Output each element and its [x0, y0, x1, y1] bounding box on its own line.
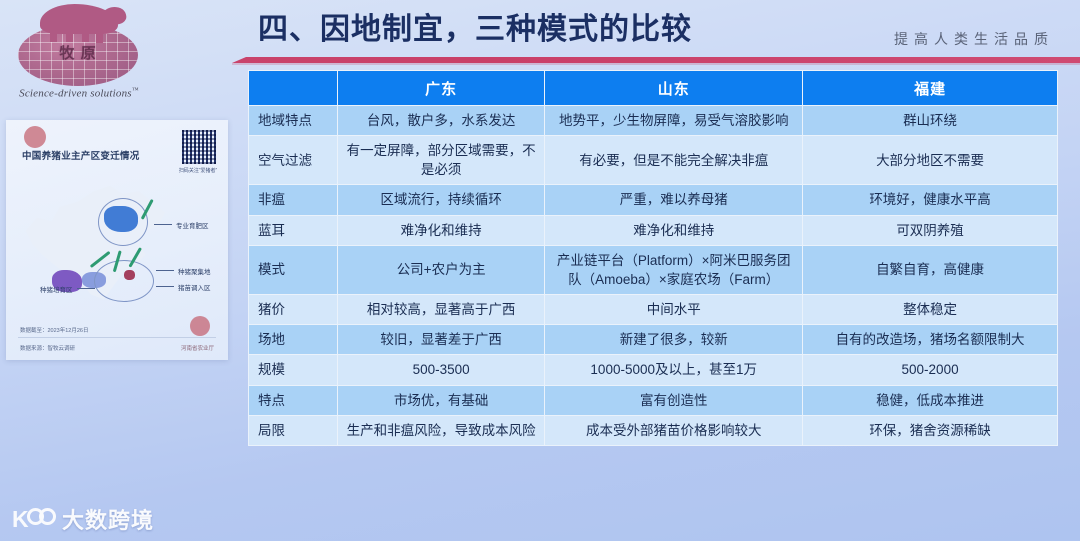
row-label: 地域特点 [249, 106, 338, 136]
highlight-circle-north [98, 198, 148, 246]
table-header-blank [249, 71, 338, 106]
table-header: 广东 山东 福建 [249, 71, 1058, 106]
map-title: 中国养猪业主产区变迁情况 [22, 148, 140, 162]
slide-slogan: 提高人类生活品质 [894, 29, 1054, 49]
o-glyph-2 [39, 508, 56, 525]
cell-shandong: 中间水平 [545, 295, 803, 325]
watermark: K 大数跨境 [12, 503, 154, 535]
map-footer-date: 数据截至：2023年12月26日 [20, 326, 88, 334]
row-label: 场地 [249, 325, 338, 355]
row-label: 局限 [249, 415, 338, 445]
cell-fujian: 环境好，健康水平高 [803, 185, 1058, 215]
cell-fujian: 可双阴养殖 [803, 215, 1058, 245]
cell-shandong: 成本受外部猪苗价格影响较大 [545, 415, 803, 445]
logo-brand-text: 牧 原 [18, 42, 138, 63]
table-row: 局限 生产和非瘟风险，导致成本风险 成本受外部猪苗价格影响较大 环保，猪舍资源稀… [249, 415, 1058, 445]
table-row: 非瘟 区域流行，持续循环 严重，难以养母猪 环境好，健康水平高 [249, 185, 1058, 215]
table-row: 特点 市场优，有基础 富有创造性 稳健，低成本推进 [249, 385, 1058, 415]
map-divider [18, 337, 216, 338]
row-label: 非瘟 [249, 185, 338, 215]
cell-shandong: 富有创造性 [545, 385, 803, 415]
table-header-shandong: 山东 [545, 71, 803, 106]
row-label: 特点 [249, 385, 338, 415]
slide-canvas: 牧 原 Science-driven solutions™ 中国养猪业主产区变迁… [0, 0, 1080, 541]
row-label: 空气过滤 [249, 136, 338, 185]
cell-guangdong: 生产和非瘟风险，导致成本风险 [337, 415, 544, 445]
table-row: 场地 较旧，显著差于广西 新建了很多，较新 自有的改造场，猪场名额限制大 [249, 325, 1058, 355]
watermark-text: 大数跨境 [62, 503, 154, 535]
qr-caption: 扫码关注“爱猪者” [172, 167, 224, 174]
cell-guangdong: 难净化和维持 [337, 215, 544, 245]
logo-tagline: Science-driven solutions™ [4, 86, 154, 100]
cell-guangdong: 区域流行，持续循环 [337, 185, 544, 215]
cell-shandong: 产业链平台（Platform）×阿米巴服务团队（Amoeba）×家庭农场（Far… [545, 245, 803, 294]
map-label-piglet-import: 猪苗调入区 [178, 282, 211, 292]
k100-logo-icon: K [12, 506, 54, 532]
comparison-table: 广东 山东 福建 地域特点 台风，散户多，水系发达 地势平，少生物屏障，易受气溶… [248, 70, 1058, 446]
table-body: 地域特点 台风，散户多，水系发达 地势平，少生物屏障，易受气溶胶影响 群山环绕 … [249, 106, 1058, 446]
cell-guangdong: 500-3500 [337, 355, 544, 385]
map-badge-bottom [190, 316, 210, 336]
china-map-panel: 中国养猪业主产区变迁情况 扫码关注“爱猪者” 专业育肥区 种猪聚集地 猪苗调入区… [6, 120, 228, 360]
pig-icon [40, 4, 118, 34]
cell-shandong: 1000-5000及以上，甚至1万 [545, 355, 803, 385]
cell-fujian: 整体稳定 [803, 295, 1058, 325]
k-glyph: K [12, 507, 29, 531]
table-header-fujian: 福建 [803, 71, 1058, 106]
cell-guangdong: 公司+农户为主 [337, 245, 544, 294]
row-label: 蓝耳 [249, 215, 338, 245]
row-label: 规模 [249, 355, 338, 385]
table-row: 空气过滤 有一定屏障，部分区域需要，不是必须 有必要，但是不能完全解决非瘟 大部… [249, 136, 1058, 185]
cell-fujian: 环保，猪舍资源稀缺 [803, 415, 1058, 445]
map-footer-source: 数据来源：智牧云调研 [20, 344, 75, 352]
cell-shandong: 严重，难以养母猪 [545, 185, 803, 215]
cell-shandong: 新建了很多，较新 [545, 325, 803, 355]
trademark-symbol: ™ [132, 86, 139, 94]
cell-fujian: 500-2000 [803, 355, 1058, 385]
cell-fujian: 稳健，低成本推进 [803, 385, 1058, 415]
cell-shandong: 地势平，少生物屏障，易受气溶胶影响 [545, 106, 803, 136]
cell-fujian: 大部分地区不需要 [803, 136, 1058, 185]
map-label-breeding-hub: 种猪聚集地 [178, 266, 211, 276]
highlight-circle-south [94, 260, 154, 302]
company-logo: 牧 原 Science-driven solutions™ [4, 2, 154, 106]
map-footer-right: 河南省农业厅 [181, 344, 214, 352]
table-row: 地域特点 台风，散户多，水系发达 地势平，少生物屏障，易受气溶胶影响 群山环绕 [249, 106, 1058, 136]
cell-fujian: 自繁自育，高健康 [803, 245, 1058, 294]
table-header-guangdong: 广东 [337, 71, 544, 106]
cell-guangdong: 市场优，有基础 [337, 385, 544, 415]
logo-tagline-text: Science-driven solutions [19, 88, 132, 100]
row-label: 模式 [249, 245, 338, 294]
map-label-breeding-area: 种猪培育区 [40, 284, 73, 294]
table-row: 规模 500-3500 1000-5000及以上，甚至1万 500-2000 [249, 355, 1058, 385]
page-title: 四、因地制宜，三种模式的比较 [258, 12, 692, 48]
cell-fujian: 自有的改造场，猪场名额限制大 [803, 325, 1058, 355]
cell-shandong: 有必要，但是不能完全解决非瘟 [545, 136, 803, 185]
title-underline-shadow [232, 63, 1080, 65]
cell-fujian: 群山环绕 [803, 106, 1058, 136]
map-label-fattening: 专业育肥区 [176, 220, 209, 230]
map-badge-top [24, 126, 46, 148]
table-row: 模式 公司+农户为主 产业链平台（Platform）×阿米巴服务团队（Amoeb… [249, 245, 1058, 294]
row-label: 猪价 [249, 295, 338, 325]
cell-guangdong: 台风，散户多，水系发达 [337, 106, 544, 136]
table-header-row: 广东 山东 福建 [249, 71, 1058, 106]
cell-guangdong: 有一定屏障，部分区域需要，不是必须 [337, 136, 544, 185]
table-row: 猪价 相对较高，显著高于广西 中间水平 整体稳定 [249, 295, 1058, 325]
table-row: 蓝耳 难净化和维持 难净化和维持 可双阴养殖 [249, 215, 1058, 245]
cell-guangdong: 较旧，显著差于广西 [337, 325, 544, 355]
qr-code-icon[interactable] [182, 130, 216, 164]
cell-guangdong: 相对较高，显著高于广西 [337, 295, 544, 325]
cell-shandong: 难净化和维持 [545, 215, 803, 245]
